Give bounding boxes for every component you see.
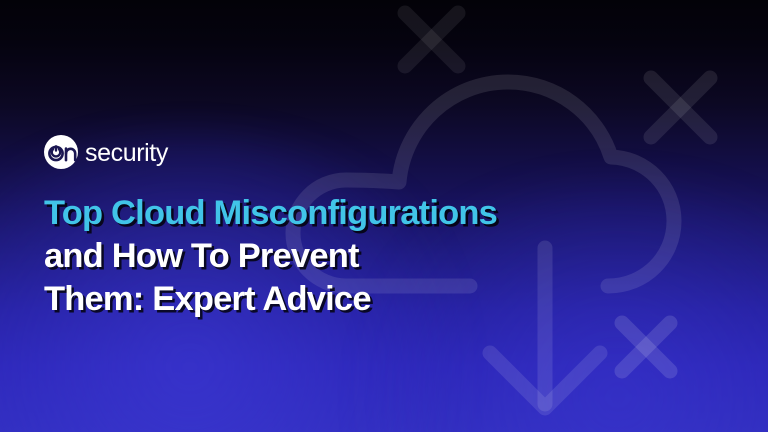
page-title: Top Cloud Misconfigurations and How To P… [44,192,684,321]
cross-mark-top-right [651,78,710,137]
power-on-circle-icon [44,135,78,169]
cross-mark-top-left [405,13,458,66]
cross-mark-bottom-right [622,323,670,371]
headline-line-3: Them: Expert Advice [44,278,684,321]
brand-logo[interactable]: security [44,133,168,171]
brand-wordmark: security [85,141,168,166]
headline-line-1: Top Cloud Misconfigurations [44,192,684,235]
headline-line-2: and How To Prevent [44,235,684,278]
article-banner: security Top Cloud Misconfigurations and… [0,0,768,432]
